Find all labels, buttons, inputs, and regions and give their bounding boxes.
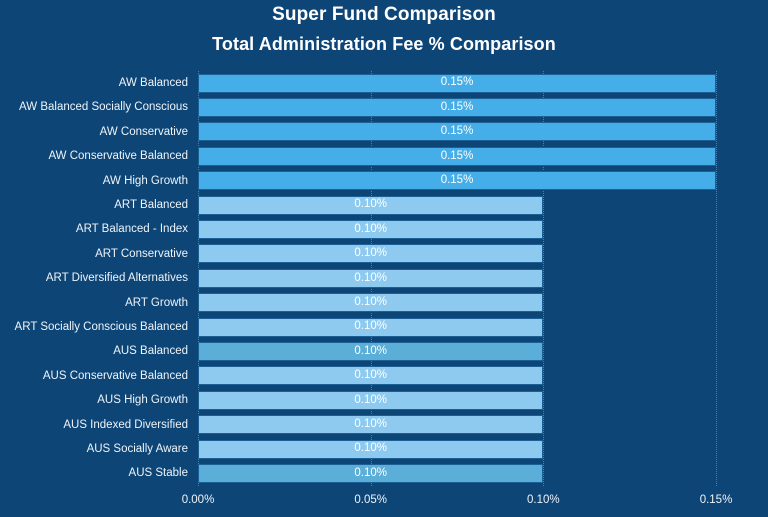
bar-row: 0.10% [198,291,716,315]
y-axis-label: AW Conservative Balanced [0,144,193,168]
bar-value-label: 0.15% [441,151,474,163]
y-axis-label: AUS Socially Aware [0,437,193,461]
chart-subtitle: Total Administration Fee % Comparison [0,31,768,57]
bar-value-label: 0.10% [354,248,387,260]
bar-value-label: 0.10% [354,297,387,309]
bar[interactable]: 0.15% [198,147,716,166]
bar-row: 0.10% [198,461,716,485]
bar-value-label: 0.10% [354,395,387,407]
y-axis-label: AUS Balanced [0,339,193,363]
bar-row: 0.10% [198,242,716,266]
bar[interactable]: 0.10% [198,415,543,434]
x-axis-tick-label: 0.10% [527,492,560,508]
bar-row: 0.15% [198,169,716,193]
bar-row: 0.15% [198,144,716,168]
bar-row: 0.10% [198,437,716,461]
x-axis-tick-labels: 0.00%0.05%0.10%0.15% [198,492,716,512]
bar-row: 0.15% [198,120,716,144]
bar-value-label: 0.10% [354,443,387,455]
bar-value-label: 0.10% [354,468,387,480]
bar-rows: 0.15%0.15%0.15%0.15%0.15%0.10%0.10%0.10%… [198,71,716,486]
chart-title: Super Fund Comparison [0,2,768,28]
y-axis-category-labels: AW BalancedAW Balanced Socially Consciou… [0,71,193,486]
bar-value-label: 0.15% [441,175,474,187]
y-axis-label: ART Socially Conscious Balanced [0,315,193,339]
x-axis-tick-label: 0.00% [182,492,215,508]
y-axis-label: AUS High Growth [0,388,193,412]
y-axis-label: ART Diversified Alternatives [0,266,193,290]
bar-value-label: 0.10% [354,273,387,285]
bar[interactable]: 0.10% [198,366,543,385]
y-axis-label: ART Growth [0,291,193,315]
bar[interactable]: 0.10% [198,391,543,410]
bar-value-label: 0.15% [441,102,474,114]
y-axis-label: AUS Stable [0,461,193,485]
y-axis-label: ART Conservative [0,242,193,266]
bar[interactable]: 0.10% [198,342,543,361]
bar-value-label: 0.10% [354,199,387,211]
bar[interactable]: 0.10% [198,244,543,263]
bar-row: 0.15% [198,95,716,119]
plot-area: 0.15%0.15%0.15%0.15%0.15%0.10%0.10%0.10%… [198,71,716,486]
x-axis-tick-label: 0.05% [354,492,387,508]
bar-value-label: 0.10% [354,346,387,358]
gridline-3 [716,71,717,486]
bar[interactable]: 0.15% [198,122,716,141]
bar-value-label: 0.10% [354,321,387,333]
y-axis-label: AW Balanced [0,71,193,95]
bar-row: 0.10% [198,193,716,217]
bar[interactable]: 0.10% [198,196,543,215]
chart-titles: Super Fund Comparison Total Administrati… [0,0,768,57]
bar[interactable]: 0.10% [198,464,543,483]
y-axis-label: AW High Growth [0,169,193,193]
bar-row: 0.10% [198,217,716,241]
bar-row: 0.10% [198,339,716,363]
y-axis-label: AUS Conservative Balanced [0,364,193,388]
bar-row: 0.10% [198,315,716,339]
bar-row: 0.10% [198,413,716,437]
bar[interactable]: 0.15% [198,74,716,93]
y-axis-label: ART Balanced - Index [0,217,193,241]
bar-row: 0.10% [198,266,716,290]
bar[interactable]: 0.10% [198,440,543,459]
y-axis-label: AUS Indexed Diversified [0,413,193,437]
bar[interactable]: 0.15% [198,171,716,190]
chart-container: Super Fund Comparison Total Administrati… [0,0,768,517]
y-axis-label: AW Balanced Socially Conscious [0,95,193,119]
bar-value-label: 0.15% [441,77,474,89]
bar[interactable]: 0.10% [198,220,543,239]
bar-row: 0.10% [198,388,716,412]
bar-row: 0.15% [198,71,716,95]
y-axis-label: AW Conservative [0,120,193,144]
y-axis-label: ART Balanced [0,193,193,217]
bar[interactable]: 0.10% [198,318,543,337]
bar-row: 0.10% [198,364,716,388]
bar-value-label: 0.10% [354,370,387,382]
bar[interactable]: 0.10% [198,293,543,312]
bar[interactable]: 0.10% [198,269,543,288]
bar-value-label: 0.10% [354,224,387,236]
bar-value-label: 0.15% [441,126,474,138]
bar[interactable]: 0.15% [198,98,716,117]
bar-value-label: 0.10% [354,419,387,431]
x-axis-tick-label: 0.15% [700,492,733,508]
